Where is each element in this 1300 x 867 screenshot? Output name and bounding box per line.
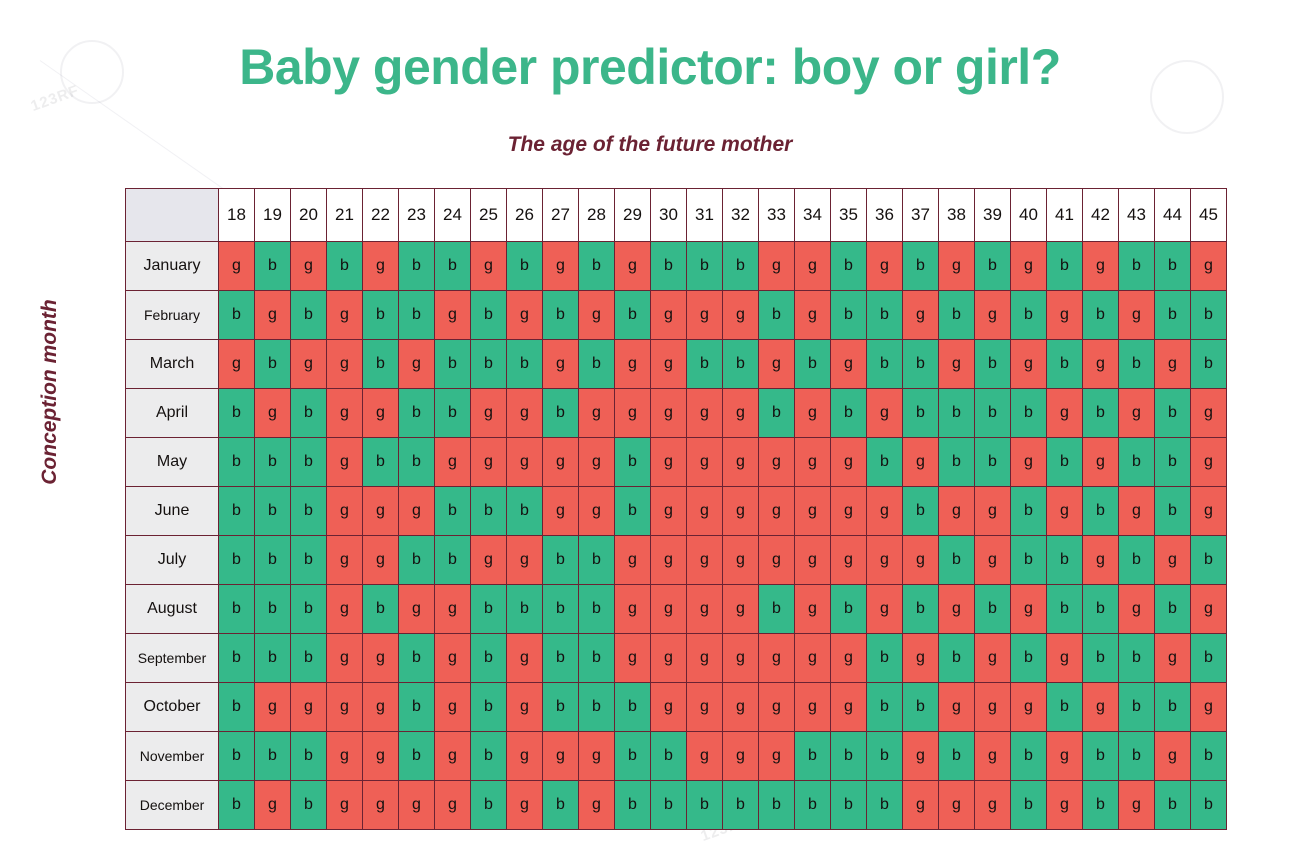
table-header-row: 1819202122232425262728293031323334353637…	[126, 189, 1227, 242]
prediction-cell: g	[975, 781, 1011, 830]
prediction-cell: g	[723, 487, 759, 536]
prediction-cell: b	[255, 585, 291, 634]
prediction-cell: b	[1191, 340, 1227, 389]
age-header-cell: 22	[363, 189, 399, 242]
prediction-cell: b	[831, 389, 867, 438]
prediction-cell: g	[615, 634, 651, 683]
prediction-cell: b	[615, 487, 651, 536]
prediction-cell: b	[1083, 732, 1119, 781]
prediction-cell: b	[687, 781, 723, 830]
age-header-cell: 21	[327, 189, 363, 242]
month-label-cell: January	[126, 242, 219, 291]
prediction-cell: b	[255, 634, 291, 683]
prediction-cell: b	[795, 781, 831, 830]
prediction-cell: g	[507, 536, 543, 585]
prediction-cell: g	[1083, 438, 1119, 487]
prediction-cell: b	[543, 389, 579, 438]
prediction-cell: g	[687, 585, 723, 634]
prediction-cell: g	[363, 242, 399, 291]
table-row: Junebbbgggbbbggbgggggggbggbgbgbg	[126, 487, 1227, 536]
prediction-cell: g	[651, 291, 687, 340]
prediction-cell: g	[759, 242, 795, 291]
prediction-cell: g	[903, 438, 939, 487]
age-header-cell: 37	[903, 189, 939, 242]
prediction-cell: g	[615, 536, 651, 585]
prediction-cell: g	[903, 732, 939, 781]
page-root: 123RF 123RF 123RF 123RF Baby gender pred…	[0, 0, 1300, 867]
prediction-cell: b	[507, 340, 543, 389]
prediction-cell: b	[471, 732, 507, 781]
x-axis-label: The age of the future mother	[0, 133, 1300, 157]
prediction-cell: g	[507, 291, 543, 340]
prediction-cell: b	[471, 585, 507, 634]
month-label-cell: July	[126, 536, 219, 585]
prediction-cell: b	[291, 781, 327, 830]
table-row: Octoberbggggbgbgbbbggggggbbgggbgbbg	[126, 683, 1227, 732]
prediction-cell: b	[867, 438, 903, 487]
age-header-cell: 29	[615, 189, 651, 242]
prediction-cell: g	[435, 585, 471, 634]
month-label-cell: February	[126, 291, 219, 340]
age-header-cell: 31	[687, 189, 723, 242]
prediction-cell: g	[255, 389, 291, 438]
prediction-cell: b	[291, 585, 327, 634]
prediction-cell: b	[759, 781, 795, 830]
prediction-cell: b	[435, 536, 471, 585]
prediction-cell: b	[471, 683, 507, 732]
prediction-cell: g	[651, 585, 687, 634]
prediction-cell: g	[1155, 340, 1191, 389]
prediction-cell: g	[435, 634, 471, 683]
prediction-cell: g	[327, 683, 363, 732]
age-header-cell: 30	[651, 189, 687, 242]
prediction-cell: b	[939, 536, 975, 585]
prediction-cell: g	[363, 781, 399, 830]
prediction-cell: g	[399, 585, 435, 634]
prediction-cell: g	[1047, 732, 1083, 781]
table-row: Augustbbbgbggbbbbggggbgbgbgbgbbgbg	[126, 585, 1227, 634]
prediction-cell: g	[1047, 487, 1083, 536]
prediction-cell: b	[255, 536, 291, 585]
age-header-cell: 41	[1047, 189, 1083, 242]
prediction-cell: g	[795, 389, 831, 438]
prediction-cell: b	[1119, 536, 1155, 585]
prediction-cell: g	[327, 781, 363, 830]
prediction-cell: g	[291, 340, 327, 389]
prediction-cell: g	[903, 781, 939, 830]
prediction-cell: g	[1155, 536, 1191, 585]
prediction-cell: b	[1083, 781, 1119, 830]
prediction-cell: b	[903, 340, 939, 389]
age-header-cell: 25	[471, 189, 507, 242]
prediction-cell: b	[939, 291, 975, 340]
prediction-cell: g	[1119, 781, 1155, 830]
prediction-cell: g	[507, 634, 543, 683]
prediction-cell: b	[579, 634, 615, 683]
prediction-cell: g	[1191, 585, 1227, 634]
prediction-cell: g	[687, 732, 723, 781]
age-header-cell: 38	[939, 189, 975, 242]
prediction-cell: g	[1047, 291, 1083, 340]
prediction-cell: g	[831, 536, 867, 585]
prediction-cell: b	[543, 781, 579, 830]
month-label-cell: December	[126, 781, 219, 830]
prediction-cell: b	[1119, 242, 1155, 291]
prediction-cell: b	[471, 340, 507, 389]
prediction-cell: b	[291, 438, 327, 487]
prediction-cell: b	[903, 585, 939, 634]
age-header-cell: 28	[579, 189, 615, 242]
prediction-cell: b	[219, 683, 255, 732]
prediction-cell: b	[903, 487, 939, 536]
month-label-cell: June	[126, 487, 219, 536]
prediction-cell: g	[363, 487, 399, 536]
prediction-cell: g	[1047, 634, 1083, 683]
table-row: Maybbbgbbgggggbggggggbgbbgbgbbg	[126, 438, 1227, 487]
prediction-cell: b	[795, 732, 831, 781]
prediction-cell: b	[1083, 389, 1119, 438]
prediction-cell: b	[363, 438, 399, 487]
table-row: Decemberbgbggggbgbgbbbbbbbbgggbgbgbb	[126, 781, 1227, 830]
prediction-cell: b	[507, 585, 543, 634]
prediction-cell: b	[903, 389, 939, 438]
age-header-cell: 32	[723, 189, 759, 242]
prediction-cell: b	[1083, 585, 1119, 634]
age-header-cell: 24	[435, 189, 471, 242]
age-header-cell: 18	[219, 189, 255, 242]
prediction-cell: b	[363, 340, 399, 389]
prediction-cell: g	[1011, 242, 1047, 291]
prediction-cell: b	[1191, 536, 1227, 585]
prediction-cell: b	[867, 732, 903, 781]
prediction-cell: b	[219, 536, 255, 585]
age-header-cell: 45	[1191, 189, 1227, 242]
prediction-cell: g	[615, 585, 651, 634]
prediction-cell: b	[363, 291, 399, 340]
prediction-cell: b	[1155, 389, 1191, 438]
prediction-cell: b	[579, 683, 615, 732]
prediction-cell: b	[831, 781, 867, 830]
prediction-cell: g	[1155, 634, 1191, 683]
prediction-cell: g	[507, 683, 543, 732]
prediction-cell: b	[471, 634, 507, 683]
prediction-cell: g	[219, 340, 255, 389]
prediction-cell: g	[363, 634, 399, 683]
prediction-cell: b	[399, 683, 435, 732]
prediction-cell: g	[867, 242, 903, 291]
prediction-cell: g	[687, 438, 723, 487]
prediction-cell: g	[471, 536, 507, 585]
prediction-cell: b	[579, 536, 615, 585]
prediction-cell: g	[1047, 389, 1083, 438]
prediction-cell: g	[795, 438, 831, 487]
month-label-cell: May	[126, 438, 219, 487]
prediction-cell: b	[471, 781, 507, 830]
prediction-cell: b	[1047, 536, 1083, 585]
prediction-cell: g	[579, 291, 615, 340]
table-row: Marchgbggbgbbbgbggbbgbgbbgbgbgbgb	[126, 340, 1227, 389]
prediction-cell: g	[507, 389, 543, 438]
prediction-cell: b	[543, 683, 579, 732]
prediction-cell: b	[615, 732, 651, 781]
prediction-cell: b	[255, 732, 291, 781]
prediction-cell: g	[435, 781, 471, 830]
prediction-cell: g	[579, 732, 615, 781]
prediction-cell: b	[687, 242, 723, 291]
prediction-cell: b	[435, 389, 471, 438]
prediction-cell: g	[651, 634, 687, 683]
prediction-cell: b	[1155, 585, 1191, 634]
month-label-cell: September	[126, 634, 219, 683]
prediction-cell: g	[903, 291, 939, 340]
prediction-cell: g	[867, 487, 903, 536]
prediction-cell: b	[975, 242, 1011, 291]
prediction-cell: g	[939, 487, 975, 536]
prediction-cell: g	[939, 340, 975, 389]
prediction-cell: g	[363, 536, 399, 585]
prediction-cell: b	[831, 732, 867, 781]
prediction-cell: b	[723, 242, 759, 291]
table-corner-cell	[126, 189, 219, 242]
age-header-cell: 23	[399, 189, 435, 242]
prediction-cell: g	[759, 634, 795, 683]
prediction-cell: g	[615, 340, 651, 389]
prediction-cell: g	[1191, 438, 1227, 487]
prediction-cell: g	[903, 634, 939, 683]
prediction-cell: g	[759, 487, 795, 536]
prediction-cell: g	[939, 242, 975, 291]
prediction-cell: g	[1191, 242, 1227, 291]
prediction-cell: g	[1047, 781, 1083, 830]
prediction-cell: b	[1155, 291, 1191, 340]
prediction-cell: g	[327, 634, 363, 683]
prediction-cell: b	[471, 487, 507, 536]
prediction-cell: g	[1011, 438, 1047, 487]
prediction-cell: g	[1119, 291, 1155, 340]
prediction-cell: b	[255, 487, 291, 536]
prediction-cell: b	[363, 585, 399, 634]
prediction-cell: g	[327, 389, 363, 438]
prediction-cell: b	[1155, 781, 1191, 830]
prediction-cell: g	[1191, 683, 1227, 732]
prediction-cell: b	[1155, 242, 1191, 291]
prediction-cell: b	[903, 683, 939, 732]
prediction-cell: g	[831, 340, 867, 389]
table-row: Septemberbbbggbgbgbbgggggggbgbgbgbbgb	[126, 634, 1227, 683]
prediction-cell: g	[723, 389, 759, 438]
prediction-cell: g	[1011, 585, 1047, 634]
prediction-cell: g	[543, 487, 579, 536]
prediction-cell: b	[867, 340, 903, 389]
table-row: Februarybgbgbbgbgbgbgggbgbbgbgbgbgbb	[126, 291, 1227, 340]
prediction-cell: b	[219, 634, 255, 683]
prediction-cell: g	[1191, 487, 1227, 536]
prediction-cell: g	[1119, 389, 1155, 438]
prediction-cell: b	[1047, 683, 1083, 732]
prediction-cell: g	[975, 634, 1011, 683]
prediction-cell: b	[1083, 634, 1119, 683]
prediction-cell: g	[759, 536, 795, 585]
prediction-cell: b	[255, 438, 291, 487]
prediction-cell: g	[435, 683, 471, 732]
prediction-cell: b	[543, 634, 579, 683]
prediction-cell: b	[759, 389, 795, 438]
prediction-cell: g	[579, 438, 615, 487]
prediction-cell: g	[291, 683, 327, 732]
age-header-cell: 26	[507, 189, 543, 242]
prediction-cell: b	[1011, 389, 1047, 438]
prediction-cell: b	[939, 389, 975, 438]
gender-prediction-table: 1819202122232425262728293031323334353637…	[125, 188, 1227, 830]
prediction-cell: b	[219, 732, 255, 781]
prediction-cell: g	[1083, 536, 1119, 585]
prediction-cell: g	[939, 781, 975, 830]
prediction-cell: b	[1011, 291, 1047, 340]
prediction-cell: g	[795, 242, 831, 291]
prediction-cell: b	[399, 634, 435, 683]
prediction-cell: g	[435, 438, 471, 487]
prediction-cell: b	[1047, 242, 1083, 291]
prediction-cell: b	[1119, 732, 1155, 781]
prediction-cell: b	[1047, 438, 1083, 487]
prediction-cell: b	[507, 242, 543, 291]
y-axis-label: Conception month	[38, 252, 62, 532]
prediction-cell: b	[651, 732, 687, 781]
age-header-cell: 20	[291, 189, 327, 242]
month-label-cell: March	[126, 340, 219, 389]
prediction-cell: g	[651, 536, 687, 585]
prediction-cell: b	[1191, 291, 1227, 340]
prediction-cell: g	[363, 683, 399, 732]
prediction-cell: b	[471, 291, 507, 340]
prediction-cell: g	[687, 487, 723, 536]
prediction-cell: g	[1119, 487, 1155, 536]
prediction-cell: g	[759, 732, 795, 781]
prediction-cell: b	[615, 438, 651, 487]
prediction-cell: b	[255, 242, 291, 291]
prediction-cell: g	[327, 585, 363, 634]
table-row: Aprilbgbggbbggbgggggbgbgbbbbgbgbg	[126, 389, 1227, 438]
prediction-cell: g	[1083, 340, 1119, 389]
month-label-cell: April	[126, 389, 219, 438]
prediction-cell: b	[543, 536, 579, 585]
prediction-cell: g	[579, 781, 615, 830]
prediction-cell: b	[615, 781, 651, 830]
prediction-cell: b	[687, 340, 723, 389]
table-row: Novemberbbbggbgbgggbbgggbbbgbgbgbbgb	[126, 732, 1227, 781]
prediction-cell: g	[867, 536, 903, 585]
prediction-cell: g	[543, 242, 579, 291]
prediction-cell: g	[255, 291, 291, 340]
prediction-cell: b	[399, 438, 435, 487]
prediction-cell: g	[327, 536, 363, 585]
prediction-cell: g	[1011, 683, 1047, 732]
prediction-cell: g	[795, 634, 831, 683]
prediction-cell: b	[507, 487, 543, 536]
age-header-cell: 27	[543, 189, 579, 242]
prediction-cell: g	[759, 438, 795, 487]
prediction-cell: g	[399, 781, 435, 830]
prediction-cell: g	[687, 389, 723, 438]
prediction-cell: b	[1155, 683, 1191, 732]
prediction-cell: g	[723, 585, 759, 634]
prediction-cell: g	[1191, 389, 1227, 438]
prediction-cell: g	[1083, 683, 1119, 732]
table-body: JanuarygbgbgbbgbgbgbbbggbgbgbgbgbbgFebru…	[126, 242, 1227, 830]
prediction-cell: b	[939, 634, 975, 683]
prediction-cell: b	[219, 585, 255, 634]
prediction-cell: b	[1083, 487, 1119, 536]
prediction-cell: g	[831, 438, 867, 487]
prediction-cell: b	[399, 389, 435, 438]
prediction-cell: g	[831, 487, 867, 536]
prediction-cell: b	[1047, 340, 1083, 389]
prediction-cell: g	[687, 536, 723, 585]
prediction-cell: g	[543, 438, 579, 487]
prediction-cell: b	[1191, 781, 1227, 830]
prediction-cell: b	[651, 242, 687, 291]
prediction-cell: b	[831, 585, 867, 634]
prediction-cell: g	[687, 291, 723, 340]
prediction-cell: g	[471, 389, 507, 438]
prediction-cell: g	[975, 683, 1011, 732]
prediction-cell: g	[723, 536, 759, 585]
prediction-cell: g	[1011, 340, 1047, 389]
prediction-cell: g	[687, 683, 723, 732]
age-header-cell: 40	[1011, 189, 1047, 242]
prediction-cell: b	[399, 732, 435, 781]
month-label-cell: August	[126, 585, 219, 634]
prediction-cell: g	[327, 487, 363, 536]
prediction-cell: b	[723, 781, 759, 830]
prediction-cell: b	[1011, 732, 1047, 781]
prediction-cell: b	[975, 389, 1011, 438]
prediction-cell: g	[723, 291, 759, 340]
prediction-cell: b	[291, 536, 327, 585]
prediction-cell: b	[1155, 438, 1191, 487]
prediction-cell: b	[1119, 634, 1155, 683]
age-header-cell: 42	[1083, 189, 1119, 242]
prediction-cell: g	[615, 242, 651, 291]
prediction-cell: g	[327, 340, 363, 389]
prediction-cell: g	[939, 683, 975, 732]
prediction-cell: b	[399, 536, 435, 585]
prediction-cell: b	[435, 487, 471, 536]
prediction-cell: g	[975, 732, 1011, 781]
prediction-cell: g	[471, 242, 507, 291]
prediction-cell: g	[435, 291, 471, 340]
table-row: Januarygbgbgbbgbgbgbbbggbgbgbgbgbbg	[126, 242, 1227, 291]
prediction-cell: g	[507, 732, 543, 781]
prediction-cell: g	[615, 389, 651, 438]
prediction-cell: g	[651, 389, 687, 438]
prediction-cell: b	[291, 634, 327, 683]
prediction-cell: g	[759, 340, 795, 389]
prediction-cell: b	[291, 291, 327, 340]
prediction-cell: g	[831, 634, 867, 683]
prediction-cell: b	[291, 389, 327, 438]
prediction-cell: b	[219, 781, 255, 830]
prediction-cell: g	[327, 732, 363, 781]
prediction-cell: b	[1083, 291, 1119, 340]
prediction-cell: b	[795, 340, 831, 389]
prediction-cell: g	[1155, 732, 1191, 781]
prediction-cell: g	[399, 487, 435, 536]
prediction-cell: g	[723, 634, 759, 683]
prediction-cell: g	[435, 732, 471, 781]
prediction-cell: g	[687, 634, 723, 683]
prediction-cell: b	[543, 291, 579, 340]
